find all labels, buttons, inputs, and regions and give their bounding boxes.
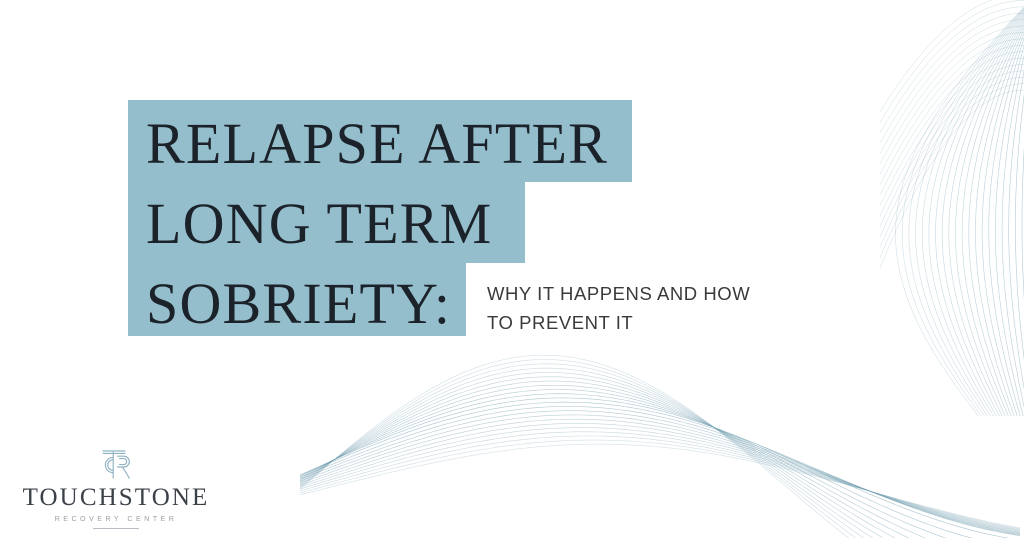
page-subtitle: WHY IT HAPPENS AND HOW TO PREVENT IT bbox=[487, 279, 777, 337]
logo-tagline: RECOVERY CENTER bbox=[18, 514, 214, 523]
logo-wordmark: TOUCHSTONE bbox=[18, 485, 214, 511]
logo-divider bbox=[93, 528, 139, 529]
logo: TOUCHSTONE RECOVERY CENTER bbox=[18, 444, 214, 530]
trc-monogram-icon bbox=[93, 444, 139, 484]
banner-canvas: RELAPSE AFTER LONG TERM SOBRIETY: WHY IT… bbox=[0, 0, 1024, 538]
